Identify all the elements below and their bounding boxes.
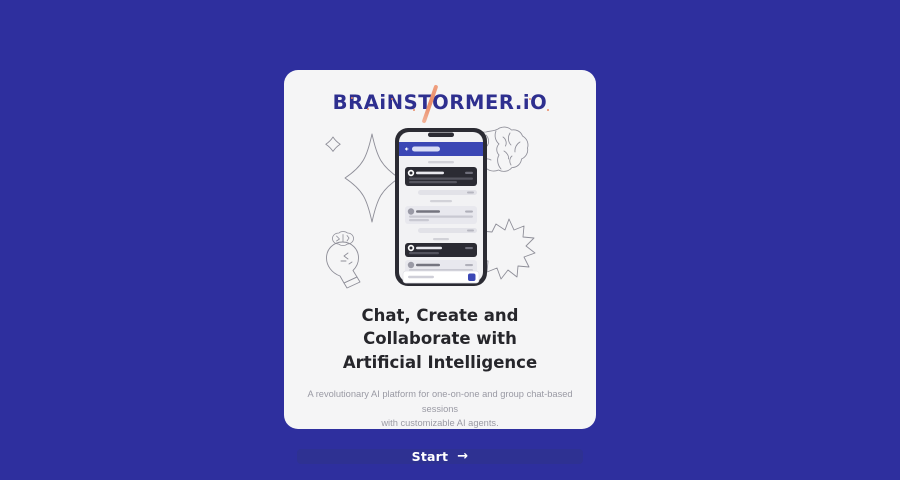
sparkle-small-icon bbox=[326, 137, 340, 151]
phone-mockup bbox=[395, 128, 487, 286]
sparkle-large-icon bbox=[345, 134, 399, 222]
start-button[interactable]: Start → bbox=[297, 449, 583, 464]
start-button-label: Start bbox=[412, 449, 449, 464]
lightbulb-icon bbox=[327, 242, 361, 288]
logo-accent-dot bbox=[547, 109, 549, 111]
chat-message-dark bbox=[405, 243, 477, 257]
arrow-right-icon: → bbox=[457, 450, 468, 463]
phone-header-title bbox=[412, 147, 440, 152]
brand-wordmark: BRAiNSTORMER.iO bbox=[333, 91, 548, 114]
onboarding-card: BRAiNSTORMER.iO bbox=[284, 70, 596, 429]
logo-accent-dot bbox=[367, 108, 369, 110]
chat-message-light bbox=[405, 206, 477, 224]
logo-accent-dot bbox=[391, 98, 393, 100]
subtitle-line-2: with customizable AI agents. bbox=[381, 418, 498, 428]
page-subtitle: A revolutionary AI platform for one-on-o… bbox=[300, 387, 580, 430]
headline-line-1: Chat, Create and Collaborate with bbox=[362, 306, 519, 348]
send-icon bbox=[468, 274, 476, 282]
page-title: Chat, Create and Collaborate with Artifi… bbox=[306, 304, 574, 374]
logo-accent-dot bbox=[351, 97, 353, 99]
subtitle-line-1: A revolutionary AI platform for one-on-o… bbox=[307, 389, 572, 413]
logo-accent-dot bbox=[529, 98, 531, 100]
brand-logo: BRAiNSTORMER.iO bbox=[333, 91, 548, 114]
phone-chat-illustration bbox=[300, 120, 580, 290]
logo-accent-dot bbox=[413, 109, 415, 111]
headline-line-2: Artificial Intelligence bbox=[343, 353, 537, 372]
